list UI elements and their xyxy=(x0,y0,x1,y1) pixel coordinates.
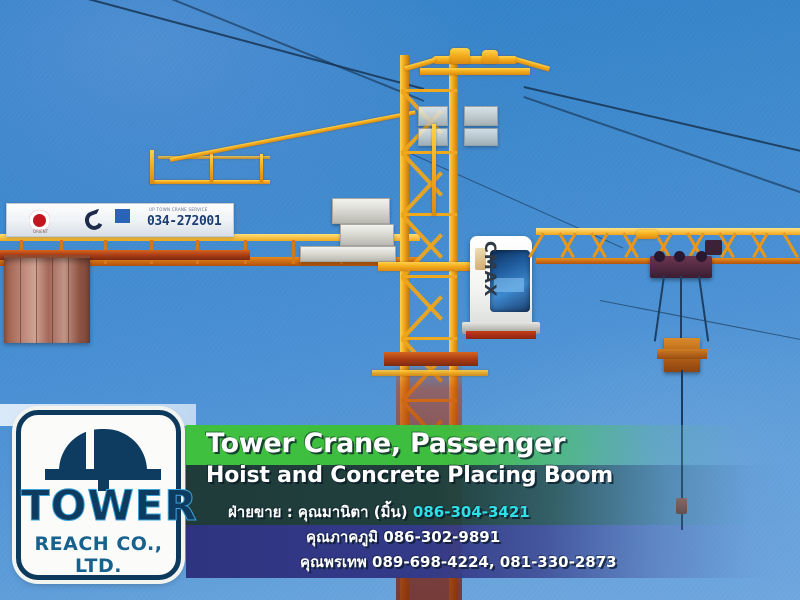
apex-panel-right xyxy=(464,106,498,126)
contact-phone-2[interactable]: 086-302-9891 xyxy=(383,528,500,546)
logo-subtitle: REACH CO., LTD. xyxy=(21,533,176,577)
cab-brand-label: CMAX xyxy=(481,241,500,303)
cab-base-red-beam xyxy=(466,331,536,339)
crescent-logo-icon xyxy=(82,208,105,232)
hook-block xyxy=(664,338,700,372)
mast-platform-mid xyxy=(372,370,488,376)
contact-line-1: ฝ่ายขาย : คุณมานิตา (มิ้น) 086-304-3421 xyxy=(228,500,530,524)
hard-hat-icon xyxy=(45,429,161,475)
hoist-trolley xyxy=(650,256,712,278)
contact-label-2: คุณภาคภูมิ xyxy=(306,528,378,546)
counter-jib-web xyxy=(292,240,295,264)
apex-panel-right-2 xyxy=(464,128,498,146)
contact-line-2: คุณภาคภูมิ 086-302-9891 xyxy=(306,525,500,549)
access-walkway xyxy=(150,150,270,210)
red-circle-logo-icon xyxy=(29,210,50,231)
apex-ladder xyxy=(432,124,436,216)
contact-phone-3[interactable]: 089-698-4224, 081-330-2873 xyxy=(372,553,617,571)
signboard-phone-number: 034-272001 xyxy=(147,214,221,229)
operator-cab: CMAX xyxy=(470,236,532,328)
company-logo[interactable]: TOWER REACH CO., LTD. xyxy=(16,410,181,580)
machinery-housing-upper xyxy=(332,198,390,224)
crane-apex xyxy=(420,48,530,88)
counterweight-blocks xyxy=(4,255,90,343)
logo-wordmark: TOWER xyxy=(21,481,176,530)
contact-label-1: ฝ่ายขาย : คุณมานิตา (มิ้น) xyxy=(228,503,408,521)
contact-line-3: คุณพรเทพ 089-698-4224, 081-330-2873 xyxy=(300,550,617,574)
contact-label-3: คุณพรเทพ xyxy=(300,553,367,571)
photo-stage: UP TOWN CRANE SERVICE 034-272001 ORIENT xyxy=(0,0,800,600)
jib-auxiliary-trolley xyxy=(705,240,722,255)
hoist-winch-box xyxy=(300,246,396,262)
contact-phone-1[interactable]: 086-304-3421 xyxy=(413,503,530,521)
slewing-platform xyxy=(378,262,482,271)
jib-tip-marker xyxy=(636,230,658,239)
machinery-housing-lower xyxy=(340,224,394,246)
hoist-rope-centre xyxy=(680,276,682,344)
advertising-banner: TOWER REACH CO., LTD. Tower Crane, Passe… xyxy=(0,404,800,586)
apex-panel-left xyxy=(418,106,448,126)
banner-title-line1: Tower Crane, Passenger xyxy=(206,428,565,459)
signboard-tiny-bottom-text: ORIENT xyxy=(33,229,48,234)
slewing-ring xyxy=(384,352,478,366)
blue-square-logo-icon xyxy=(115,209,130,223)
banner-title-line2: Hoist and Concrete Placing Boom xyxy=(206,463,613,488)
